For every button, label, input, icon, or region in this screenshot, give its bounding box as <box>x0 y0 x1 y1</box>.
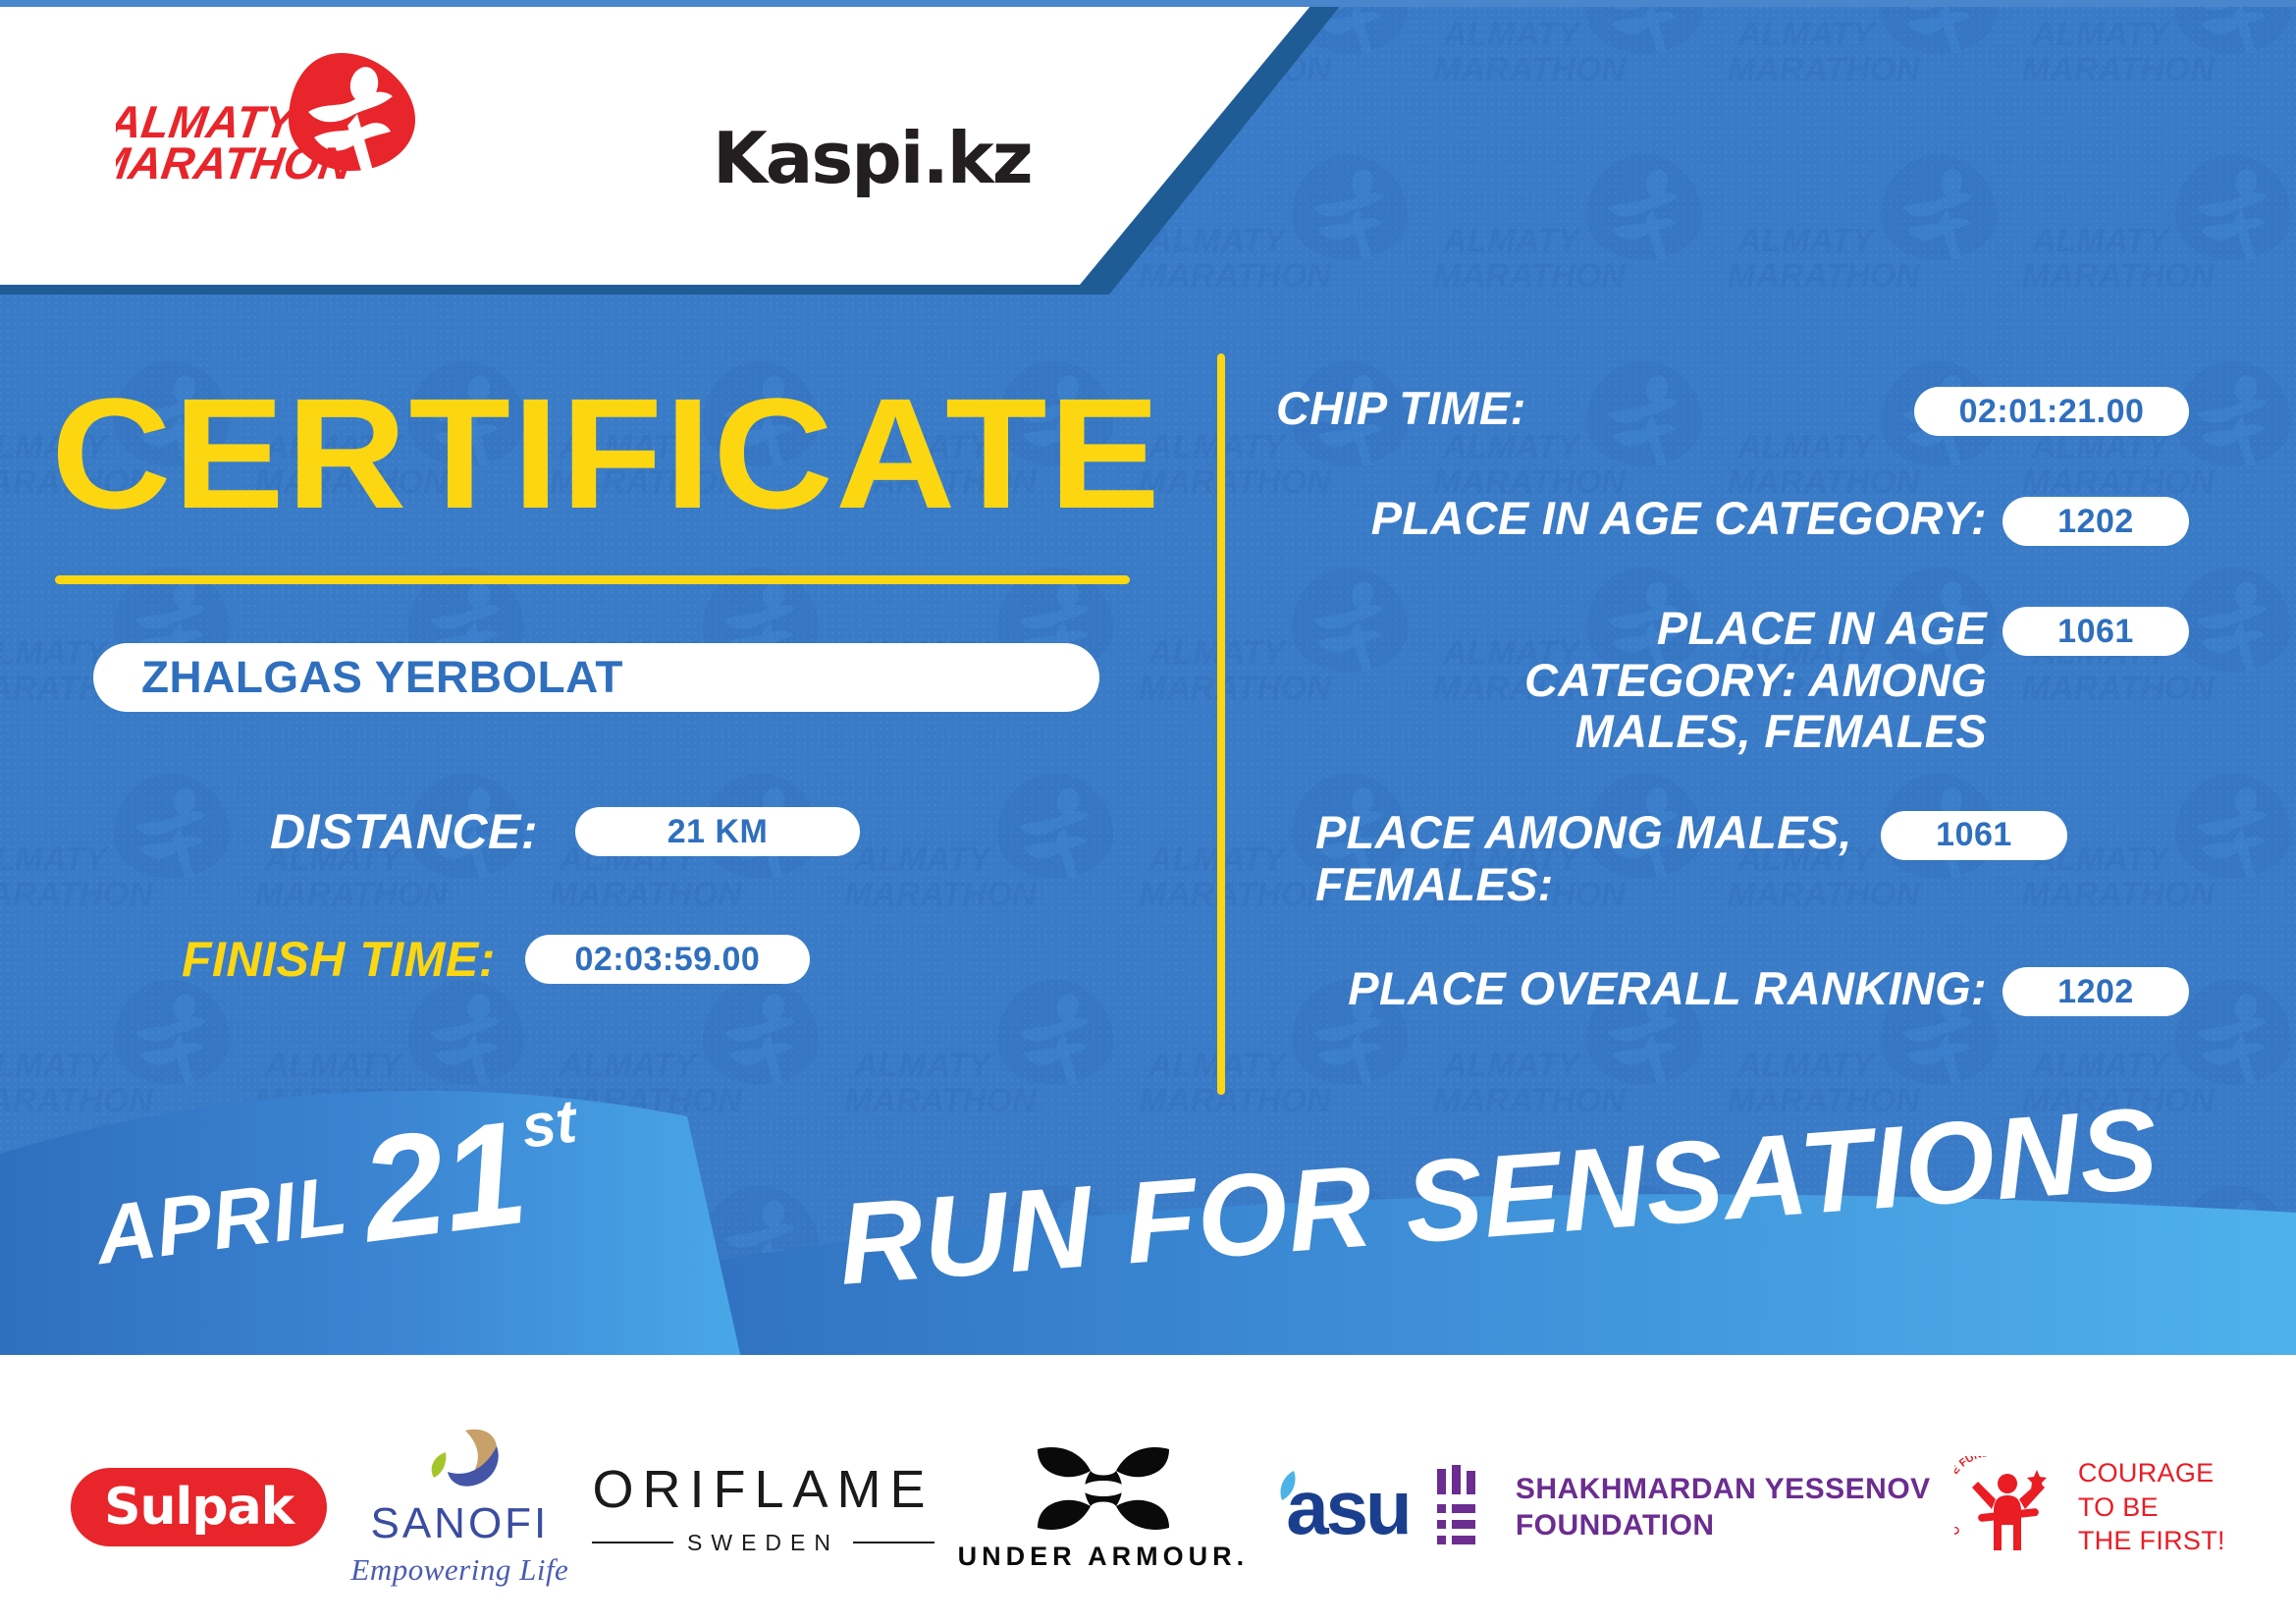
stat-label: CHIP TIME: <box>1276 383 1914 435</box>
sponsor-logo-sulpak: Sulpak <box>71 1468 327 1546</box>
finish-time-value: 02:03:59.00 <box>525 935 810 984</box>
under-armour-wordmark: UNDER ARMOUR. <box>958 1542 1250 1572</box>
sponsor-logo-under-armour: UNDER ARMOUR. <box>958 1443 1250 1572</box>
distance-value: 21 KM <box>575 807 860 856</box>
kaspi-logo: Kaspi.kz <box>687 106 1031 209</box>
sponsor-logo-asu: asu <box>1272 1463 1409 1552</box>
sanofi-wordmark: SANOFI <box>370 1499 549 1548</box>
stat-value: 1202 <box>2002 967 2189 1016</box>
top-accent-rule <box>0 0 2296 7</box>
distance-label: DISTANCE: <box>270 803 538 860</box>
oriflame-rule-left <box>592 1542 673 1543</box>
participant-name-value: ZHALGAS YERBOLAT <box>93 652 623 703</box>
distance-row: DISTANCE: 21 KM <box>270 803 860 860</box>
yessenov-line1: SHAKHMARDAN YESSENOV <box>1516 1471 1931 1508</box>
stat-row: PLACE OVERALL RANKING: 1202 <box>1276 963 2189 1024</box>
finish-time-label: FINISH TIME: <box>182 931 496 988</box>
almaty-marathon-logo: ALMATY MARATHON <box>116 47 430 185</box>
stat-value: 02:01:21.00 <box>1914 387 2189 436</box>
stat-row: CHIP TIME: 02:01:21.00 <box>1276 383 2189 444</box>
stat-label: PLACE AMONG MALES, FEMALES: <box>1315 807 1881 910</box>
stat-row: PLACE IN AGE CATEGORY: 1202 <box>1276 493 2189 554</box>
stat-row: PLACE AMONG MALES, FEMALES: 1061 <box>1276 807 2189 910</box>
yessenov-line2: FOUNDATION <box>1516 1507 1931 1544</box>
sanofi-tagline: Empowering Life <box>350 1552 568 1588</box>
stat-value: 1061 <box>2002 607 2189 656</box>
title-underline <box>55 575 1130 584</box>
courage-line2: TO BE <box>2078 1490 2225 1525</box>
sponsor-logo-yessenov: SHAKHMARDAN YESSENOV FOUNDATION <box>1433 1465 1931 1549</box>
finish-time-row: FINISH TIME: 02:03:59.00 <box>182 931 810 988</box>
certificate-page: ALMATY MARATHON ALMATYMARATHONALMATYMARA… <box>0 0 2296 1624</box>
asu-wordmark: asu <box>1286 1463 1409 1552</box>
yessenov-mark-icon <box>1433 1465 1494 1549</box>
oriflame-subtext: SWEDEN <box>687 1530 839 1556</box>
under-armour-mark-icon <box>1030 1443 1177 1534</box>
kaspi-wordmark: Kaspi.kz <box>713 123 1032 193</box>
courage-line1: COURAGE <box>2078 1456 2225 1490</box>
sponsor-logo-sanofi: SANOFI Empowering Life <box>350 1427 568 1588</box>
almaty-logo-line2: MARATHON <box>116 137 356 185</box>
oriflame-wordmark: ORIFLAME <box>592 1459 934 1520</box>
vertical-divider <box>1217 353 1225 1095</box>
event-day-suffix: st <box>517 1087 580 1163</box>
page-title: CERTIFICATE <box>51 378 1162 529</box>
participant-name-field: ZHALGAS YERBOLAT <box>93 643 1099 712</box>
sponsor-logo-courage: CORPORATE FUND COURAGE TO BE THE FIRST! <box>1954 1456 2225 1558</box>
stat-value: 1202 <box>2002 497 2189 546</box>
sponsor-logos: Sulpak SANOFI Empowering Life ORIFLAME S… <box>0 1414 2296 1600</box>
oriflame-rule-right <box>853 1542 934 1543</box>
stat-label: PLACE IN AGE CATEGORY: AMONG MALES, FEMA… <box>1378 603 2002 758</box>
sulpak-wordmark: Sulpak <box>104 1478 294 1537</box>
courage-mark-icon: CORPORATE FUND <box>1954 1456 2062 1558</box>
sanofi-mark-icon <box>412 1427 507 1497</box>
courage-line3: THE FIRST! <box>2078 1524 2225 1558</box>
event-day: 21 <box>355 1109 532 1253</box>
stat-row: PLACE IN AGE CATEGORY: AMONG MALES, FEMA… <box>1276 603 2189 758</box>
sponsor-logo-oriflame: ORIFLAME SWEDEN <box>592 1459 934 1556</box>
stat-value: 1061 <box>1881 811 2067 860</box>
stats-panel: CHIP TIME: 02:01:21.00 PLACE IN AGE CATE… <box>1276 383 2189 1065</box>
stat-label: PLACE IN AGE CATEGORY: <box>1276 493 2002 545</box>
stat-label: PLACE OVERALL RANKING: <box>1276 963 2002 1015</box>
